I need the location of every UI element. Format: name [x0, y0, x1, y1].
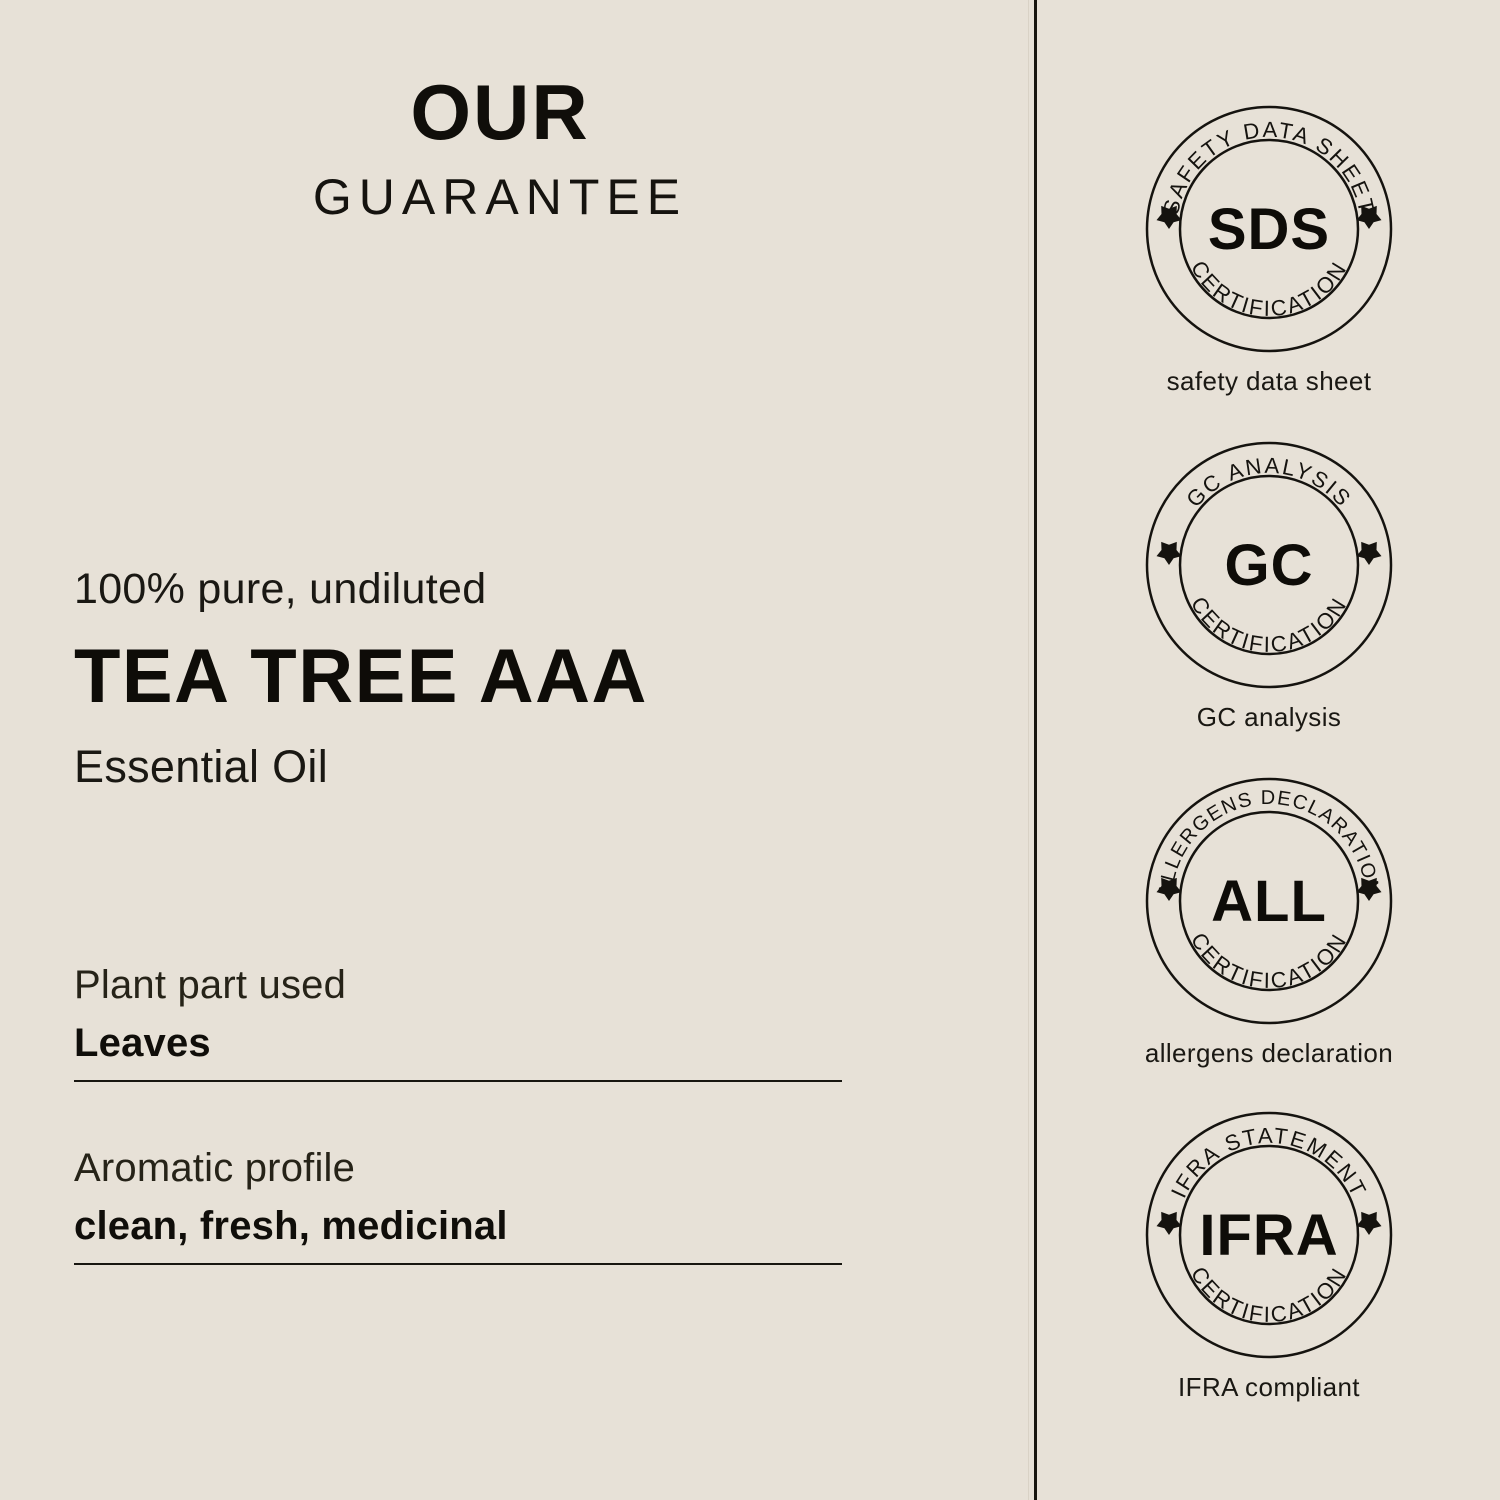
column-divider-highlight [1028, 0, 1029, 1500]
attribute-value: clean, fresh, medicinal [74, 1203, 842, 1249]
certification-caption: GC analysis [1038, 702, 1500, 733]
certification-caption: IFRA compliant [1038, 1372, 1500, 1403]
seal-bottom-arc-text: CERTIFICATION [1186, 928, 1352, 993]
certification-badge-column: SAFETY DATA SHEET CERTIFICATION SDS safe… [1038, 0, 1500, 1500]
left-content-column: OUR GUARANTEE 100% pure, undiluted TEA T… [0, 0, 1028, 1500]
seal-icon-ifra: IFRA STATEMENT CERTIFICATION IFRA [1144, 1110, 1394, 1360]
attribute-divider [74, 1263, 842, 1265]
star-icon [1157, 542, 1182, 565]
certification-item-allergens: ALLERGENS DECLARATION CERTIFICATION ALL … [1038, 776, 1500, 1069]
seal-core-label: IFRA [1199, 1203, 1338, 1268]
headline-secondary: GUARANTEE [0, 168, 1000, 226]
star-icon [1357, 1212, 1382, 1235]
attribute-label: Aromatic profile [74, 1145, 842, 1191]
seal-core-label: ALL [1211, 869, 1327, 934]
seal-bottom-arc-text: CERTIFICATION [1186, 592, 1352, 657]
attribute-row: Plant part used Leaves [74, 962, 842, 1082]
certification-item-sds: SAFETY DATA SHEET CERTIFICATION SDS safe… [1038, 104, 1500, 397]
column-divider [1034, 0, 1037, 1500]
seal-bottom-arc-text: CERTIFICATION [1186, 1262, 1352, 1327]
seal-icon-gc: GC ANALYSIS CERTIFICATION GC [1144, 440, 1394, 690]
attribute-value: Leaves [74, 1020, 842, 1066]
seal-icon-sds: SAFETY DATA SHEET CERTIFICATION SDS [1144, 104, 1394, 354]
certification-caption: allergens declaration [1038, 1038, 1500, 1069]
product-attributes: Plant part used Leaves Aromatic profile … [74, 962, 842, 1265]
seal-core-label: GC [1225, 533, 1314, 598]
attribute-label: Plant part used [74, 962, 842, 1008]
seal-top-arc-text: IFRA STATEMENT [1166, 1123, 1372, 1202]
seal-bottom-arc-text: CERTIFICATION [1186, 256, 1352, 321]
guarantee-infographic: OUR GUARANTEE 100% pure, undiluted TEA T… [0, 0, 1500, 1500]
attribute-divider [74, 1080, 842, 1082]
star-icon [1357, 542, 1382, 565]
page-title: OUR GUARANTEE [0, 74, 1000, 226]
product-name: TEA TREE AAA [74, 639, 934, 715]
product-type: Essential Oil [74, 741, 934, 793]
attribute-row: Aromatic profile clean, fresh, medicinal [74, 1145, 842, 1265]
seal-icon-allergens: ALLERGENS DECLARATION CERTIFICATION ALL [1144, 776, 1394, 1026]
seal-core-label: SDS [1208, 197, 1330, 262]
certification-caption: safety data sheet [1038, 366, 1500, 397]
headline-primary: OUR [0, 74, 1000, 150]
seal-top-arc-text: GC ANALYSIS [1181, 453, 1357, 512]
product-purity-text: 100% pure, undiluted [74, 566, 934, 613]
certification-item-gc: GC ANALYSIS CERTIFICATION GC GC analysis [1038, 440, 1500, 733]
star-icon [1157, 1212, 1182, 1235]
product-identity: 100% pure, undiluted TEA TREE AAA Essent… [74, 566, 934, 793]
certification-item-ifra: IFRA STATEMENT CERTIFICATION IFRA IFRA c… [1038, 1110, 1500, 1403]
